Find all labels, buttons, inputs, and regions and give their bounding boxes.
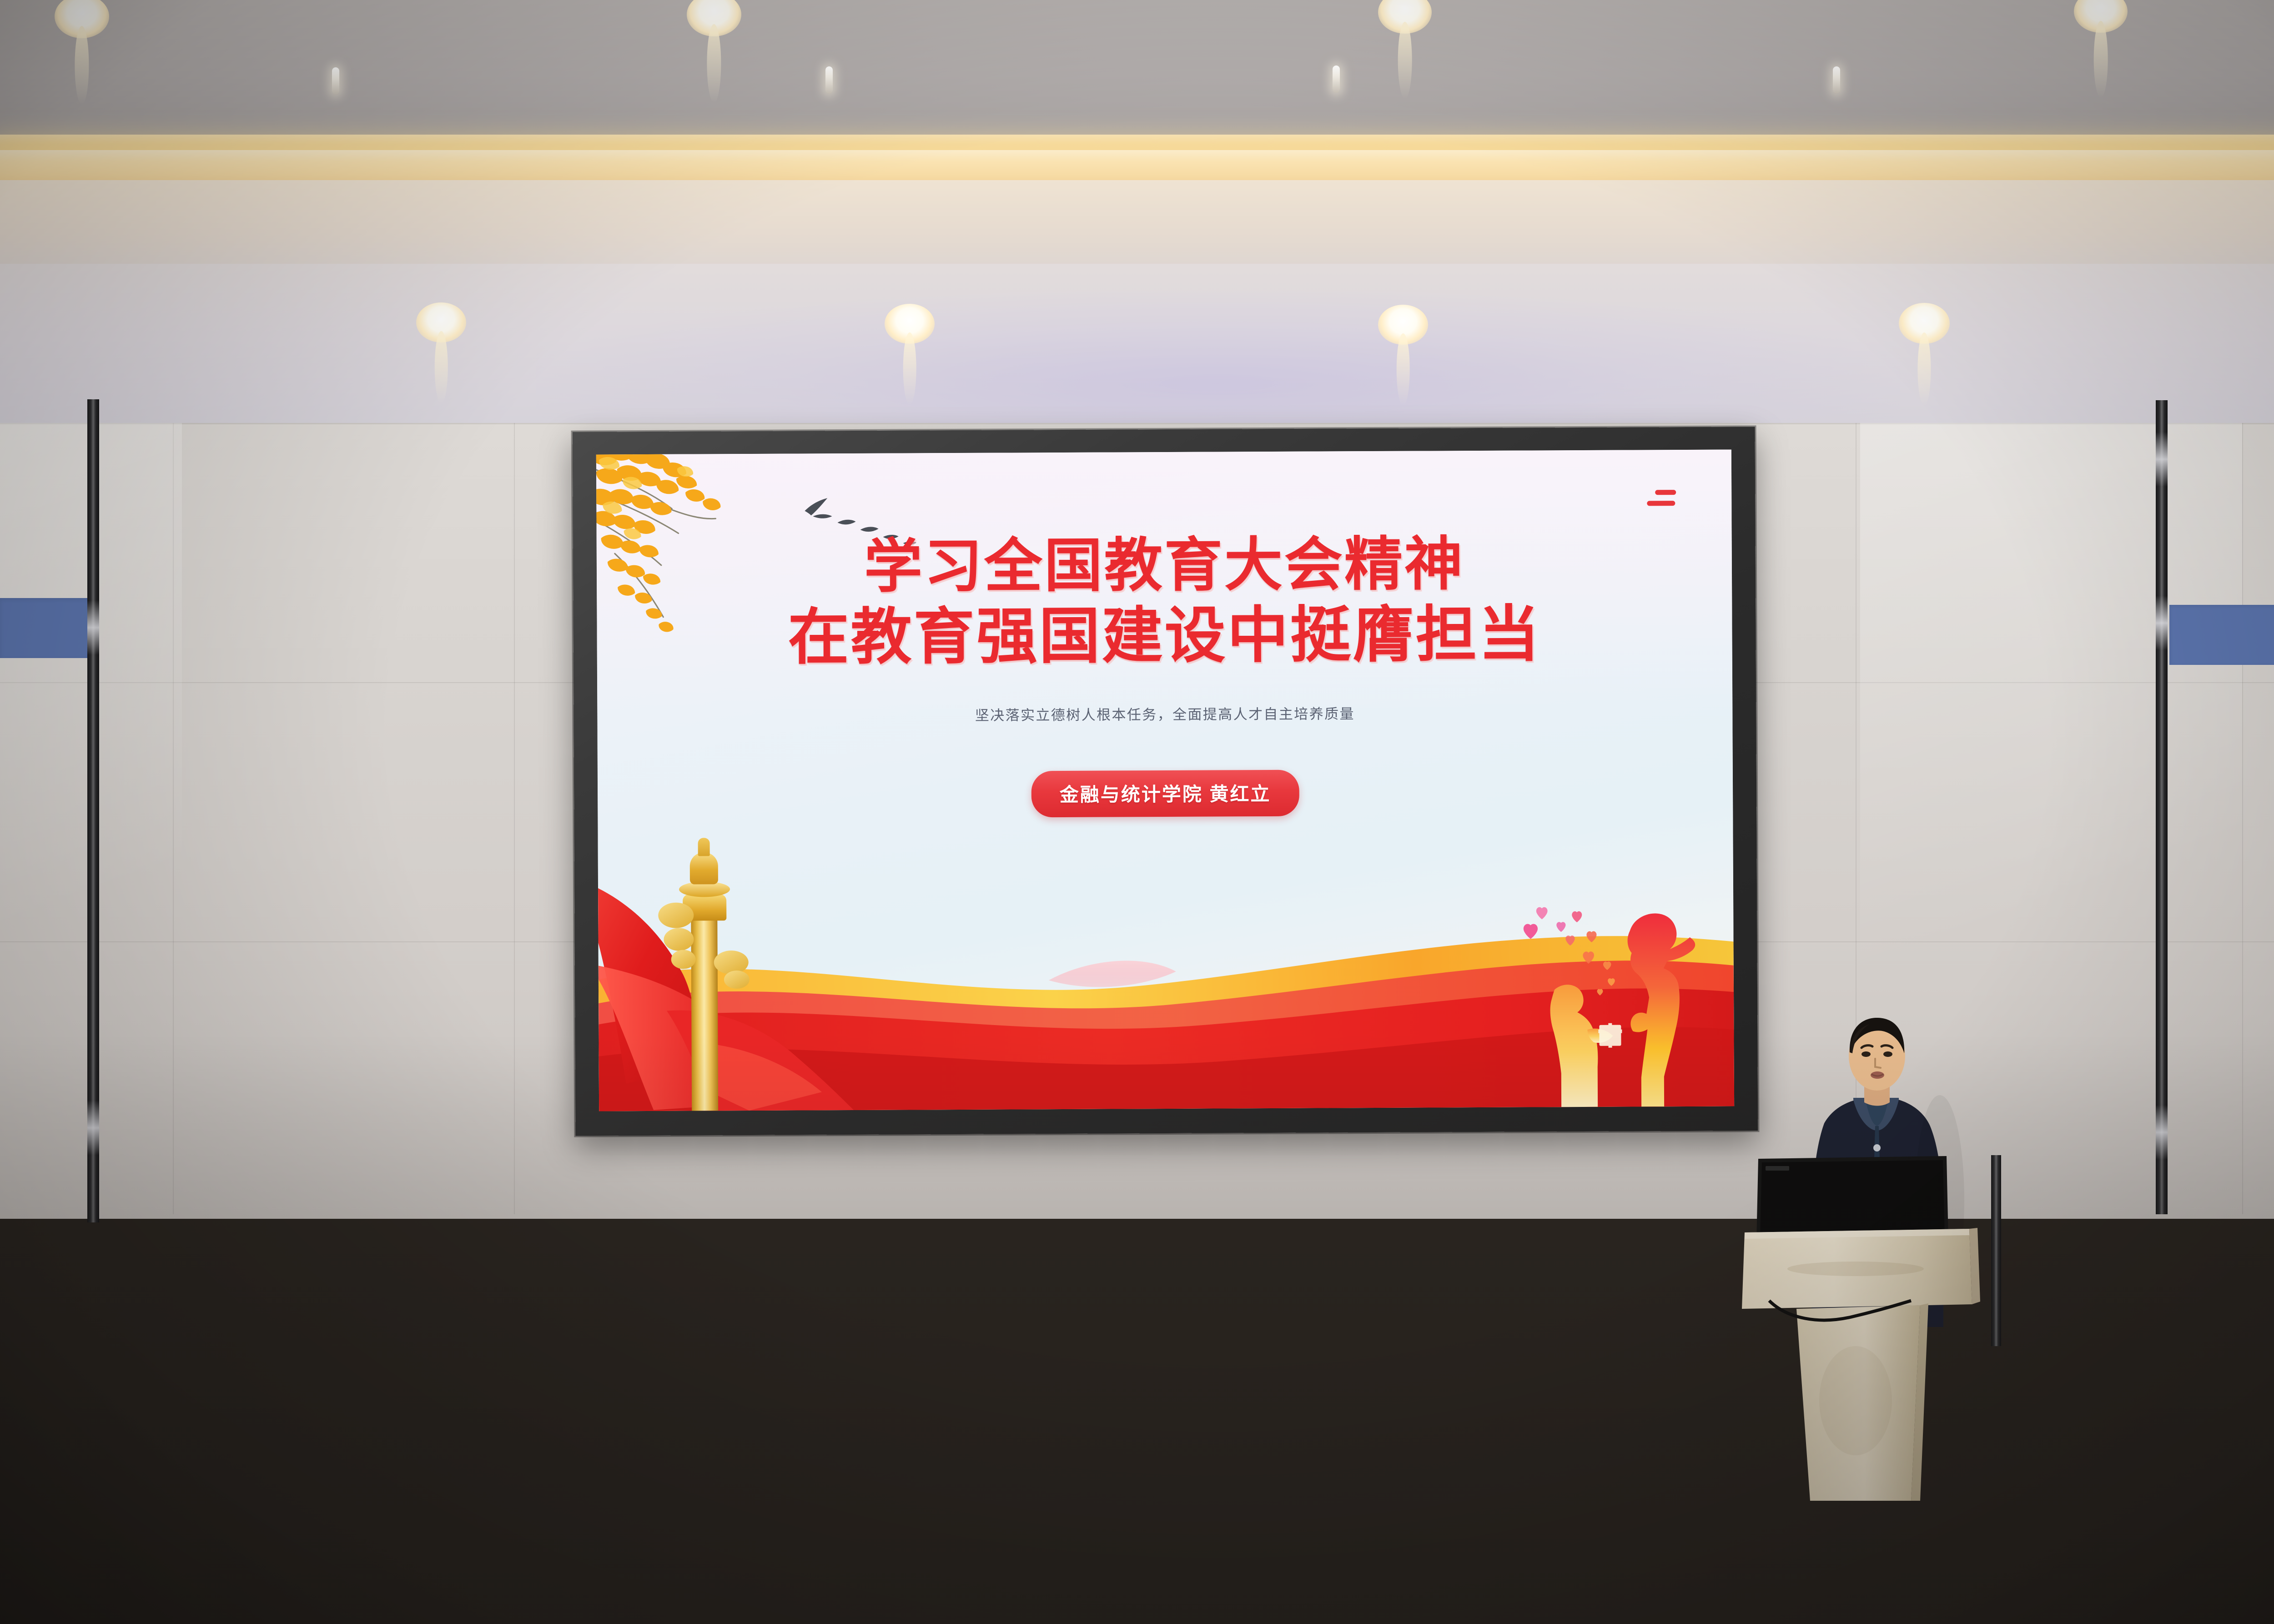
cove-light-strip [0,150,2274,182]
ceiling-slot-light [825,66,833,94]
metal-strip-glint [2156,432,2168,487]
downlight-icon [416,302,466,342]
metal-strip-glint [87,600,99,655]
downlight-icon [1899,303,1950,344]
metal-strip-glint [2156,596,2168,650]
pillar-top-drum [690,852,718,884]
ceiling-projector-glow [536,291,1900,446]
projection-screen[interactable]: 学习全国教育大会精神 在教育强国建设中挺膺担当 坚决落实立德树人根本任务，全面提… [573,427,1758,1136]
pillar-cloud-left [658,903,694,928]
corner-dash-mark-icon [1642,490,1678,506]
slide-title-line1: 学习全国教育大会精神 [597,531,1732,601]
wall-accent-band-right [2169,605,2274,665]
downlight-icon [885,304,935,344]
ceiling-slot-light [332,67,339,95]
ceiling-slot-light [1833,66,1840,94]
pillar-cloud-left3 [671,950,696,969]
slide-title-block: 学习全国教育大会精神 在教育强国建设中挺膺担当 [597,531,1732,673]
presenter-badge: 金融与统计学院 黄红立 [1031,770,1299,818]
lecture-hall-scene: 学习全国教育大会精神 在教育强国建设中挺膺担当 坚决落实立德树人根本任务，全面提… [0,0,2274,1624]
pillar-cloud-left2 [664,928,694,951]
ceiling-slot-light [1333,65,1340,93]
ceiling-lower-soffit [0,180,2274,266]
pillar-beast-tip [698,838,710,856]
pillar-cloud-right [714,950,749,974]
ceiling-upper [0,0,2274,136]
audience-area [0,1033,2274,1624]
downlight-icon [1378,305,1428,345]
slide-title-line2: 在教育强国建设中挺膺担当 [597,599,1732,673]
slide-surface: 学习全国教育大会精神 在教育强国建设中挺膺担当 坚决落实立德树人根本任务，全面提… [596,450,1734,1111]
wall-accent-band-left [0,598,99,658]
pillar-cloud-right2 [724,970,750,989]
